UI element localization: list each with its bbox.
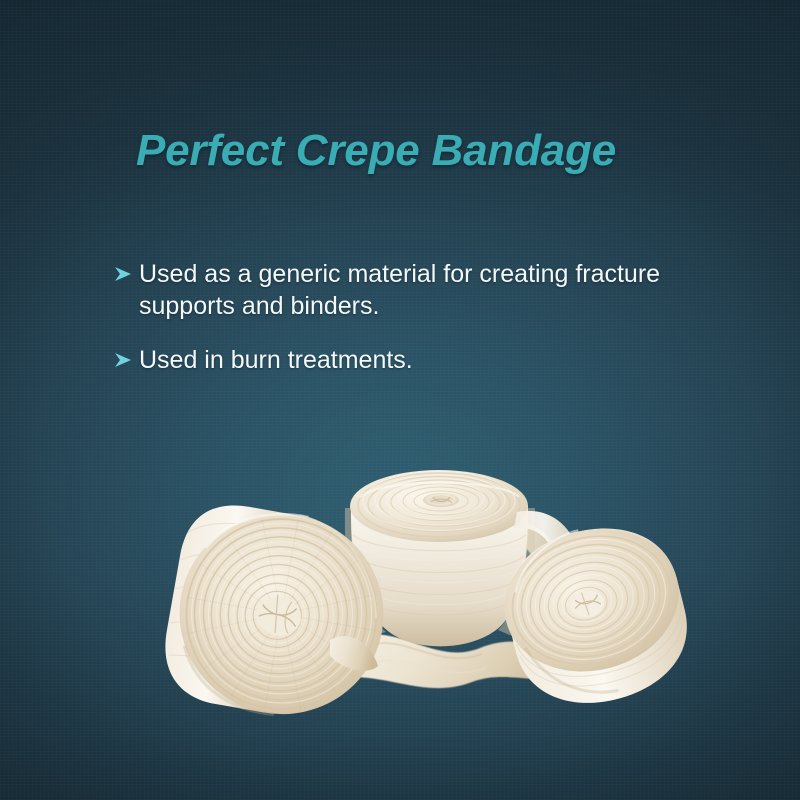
list-item: Used as a generic material for creating … xyxy=(113,258,753,322)
list-item-label: Used in burn treatments. xyxy=(139,344,753,376)
background-noise-texture xyxy=(0,0,800,800)
arrowhead-right-icon xyxy=(113,258,139,284)
bullet-list: Used as a generic material for creating … xyxy=(113,258,753,394)
arrowhead-right-icon xyxy=(113,344,139,370)
page-title: Perfect Crepe Bandage xyxy=(136,126,616,176)
list-item-label: Used as a generic material for creating … xyxy=(139,258,753,322)
list-item: Used in burn treatments. xyxy=(113,344,753,376)
slide-canvas: Perfect Crepe Bandage Used as a generic … xyxy=(0,0,800,800)
